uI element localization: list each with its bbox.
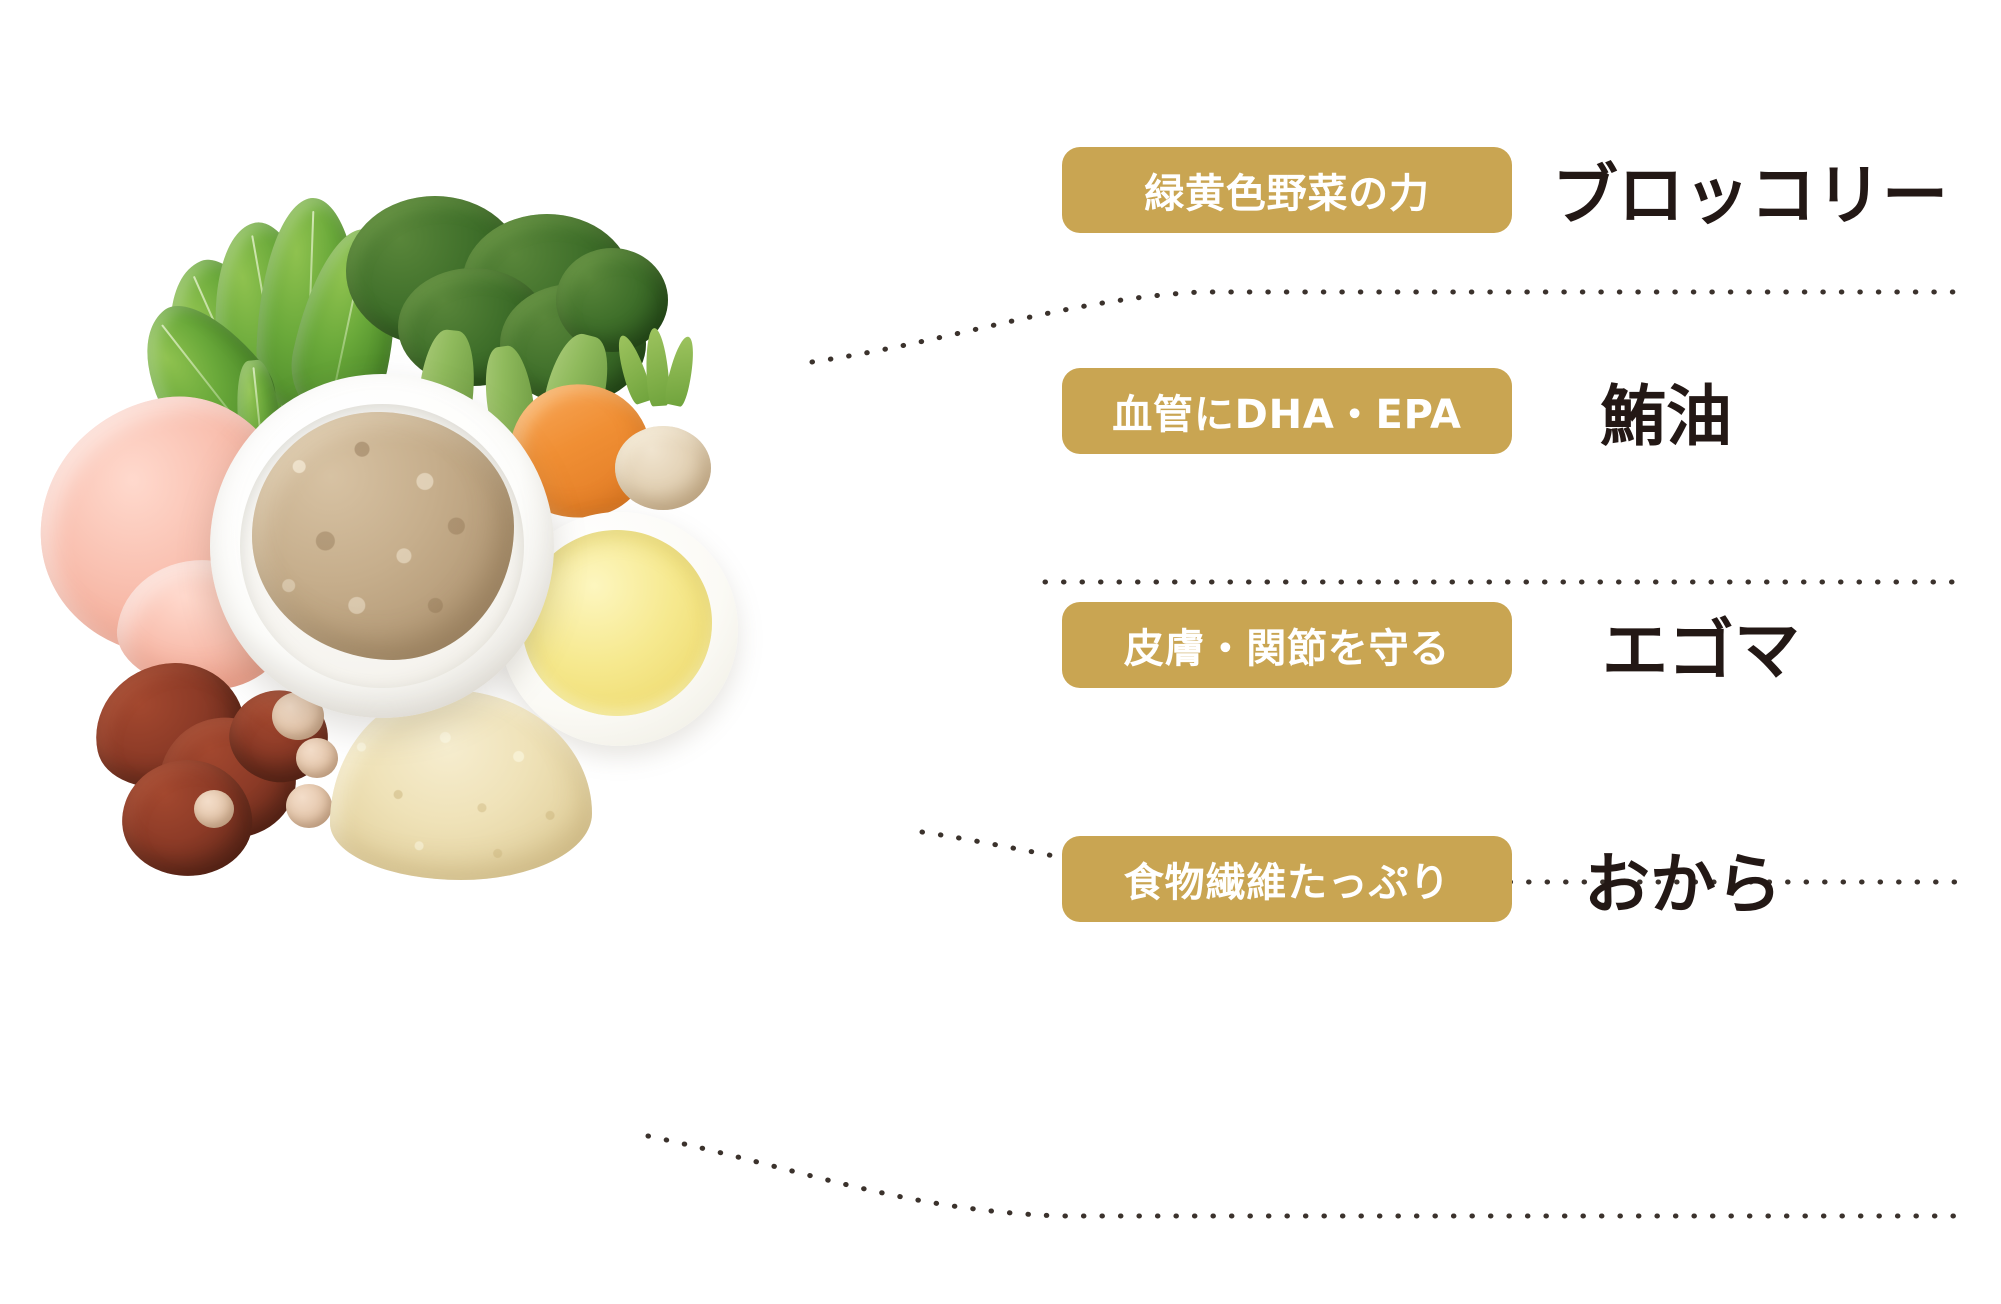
ingredient-name-egoma: エゴマ xyxy=(1602,597,1800,693)
callout-row-egoma: 皮膚・関節を守る エゴマ xyxy=(1062,597,1800,693)
callout-row-okara: 食物繊維たっぷり おから xyxy=(1062,831,1782,927)
callout-row-broccoli: 緑黄色野菜の力 ブロッコリー xyxy=(1062,142,1948,238)
ingredient-name-tuna-oil: 鮪油 xyxy=(1600,363,1732,459)
chicken-gizzard-icon xyxy=(194,790,234,828)
badge-egoma[interactable]: 皮膚・関節を守る xyxy=(1062,602,1512,688)
badge-label: 食物繊維たっぷり xyxy=(1124,850,1450,908)
badge-tuna-oil[interactable]: 血管にDHA・EPA xyxy=(1062,368,1512,454)
chicken-gizzard-icon xyxy=(296,738,338,778)
carrot-leaf-icon xyxy=(663,334,699,407)
ingredient-name-broccoli: ブロッコリー xyxy=(1552,142,1948,238)
callout-row-tuna-oil: 血管にDHA・EPA 鮪油 xyxy=(1062,363,1732,459)
badge-okara[interactable]: 食物繊維たっぷり xyxy=(1062,836,1512,922)
leader-line-broccoli xyxy=(812,292,1963,362)
badge-label: 皮膚・関節を守る xyxy=(1124,616,1450,674)
badge-label: 緑黄色野菜の力 xyxy=(1144,161,1430,219)
ingredient-callout-graphic: 緑黄色野菜の力 ブロッコリー 血管にDHA・EPA 鮪油 皮膚・関節を守る エゴ… xyxy=(0,0,2001,1304)
badge-label: 血管にDHA・EPA xyxy=(1112,382,1462,440)
yeast-powder-icon xyxy=(615,426,711,510)
ingredient-photo-collage xyxy=(0,0,900,1304)
ingredient-name-okara: おから xyxy=(1584,831,1782,927)
badge-broccoli[interactable]: 緑黄色野菜の力 xyxy=(1062,147,1512,233)
chicken-gizzard-icon xyxy=(286,784,332,828)
